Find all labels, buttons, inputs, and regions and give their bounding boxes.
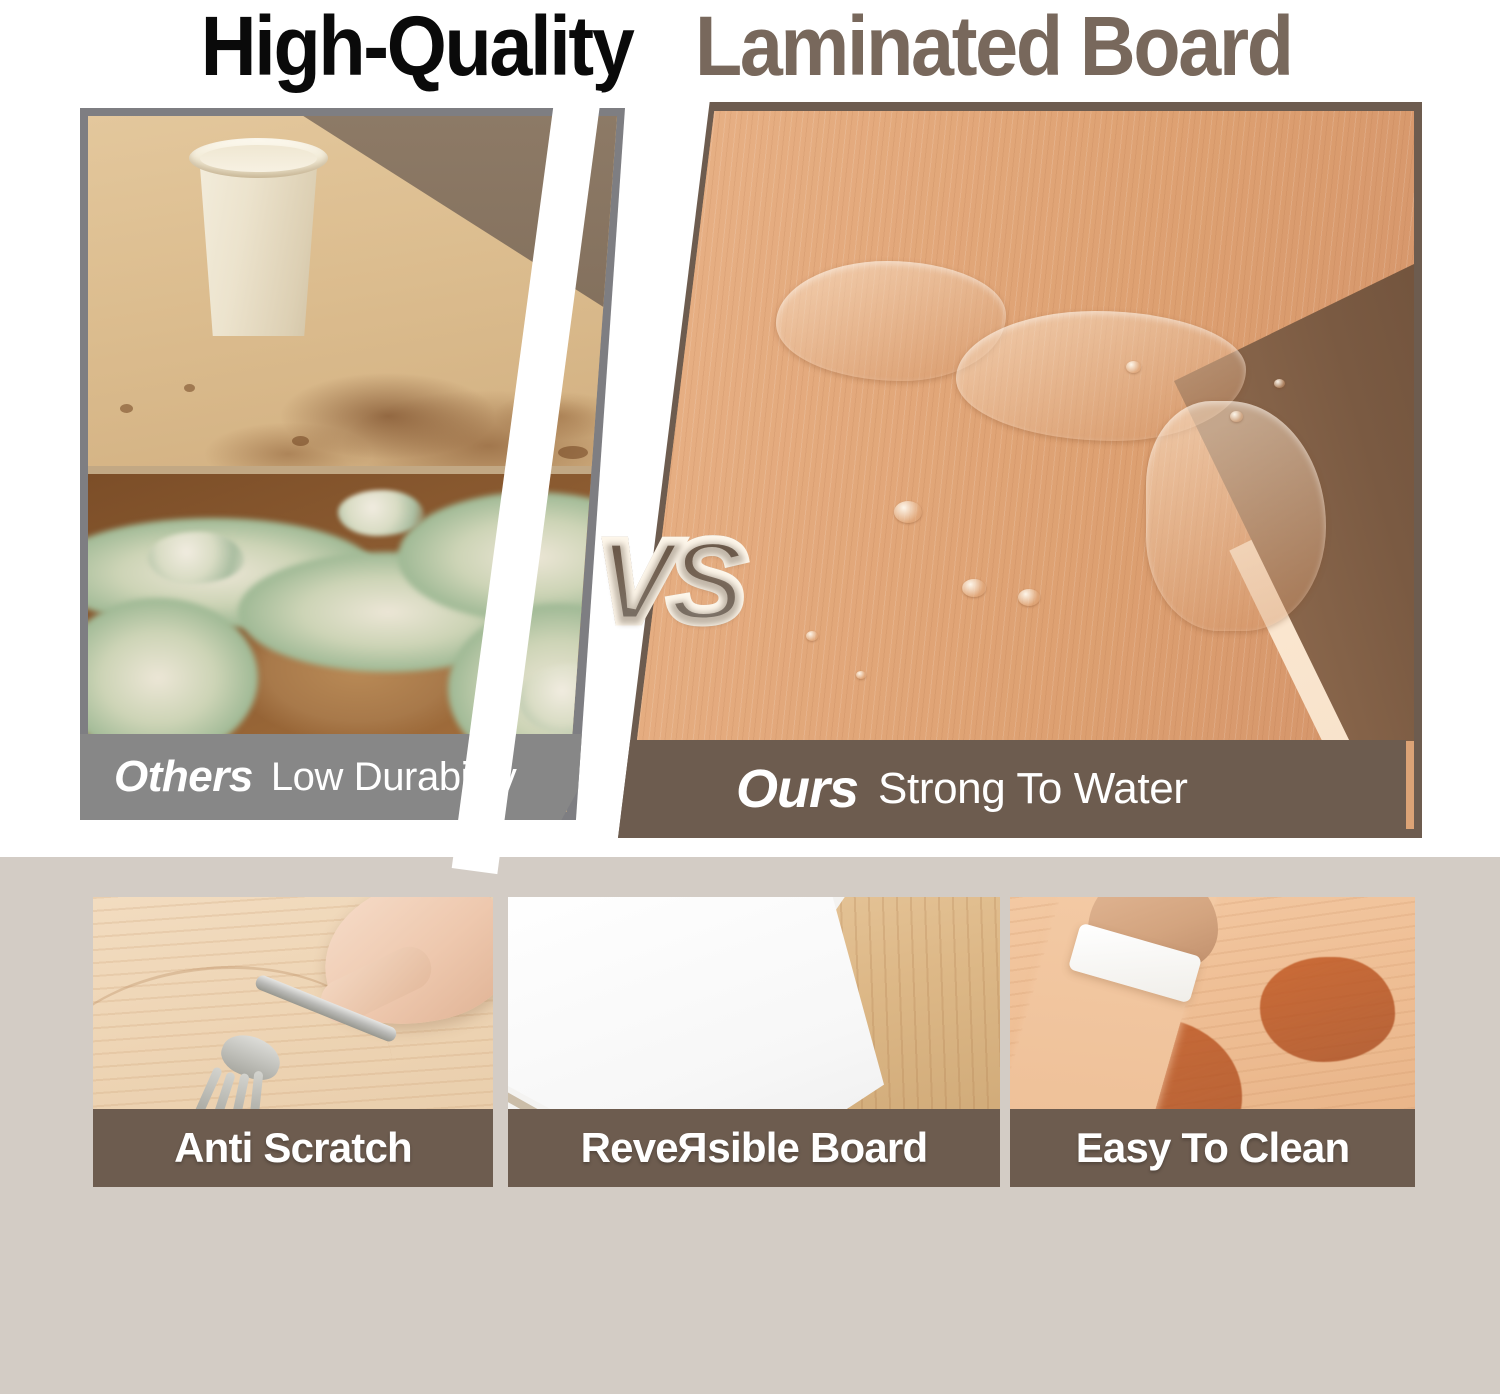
water-bead <box>1126 361 1141 373</box>
feature-label-text: Easy To Clean <box>1076 1124 1350 1172</box>
ours-block: Ours Strong To Water <box>618 102 1422 838</box>
feature-card-reversible-board: ReveRsible Board <box>508 897 1000 1187</box>
features-section: Anti Scratch ReveRsible Board Easy To Cl… <box>0 857 1500 1394</box>
page-title-part-one: High-Quality <box>201 4 633 88</box>
feature-label-bar: Easy To Clean <box>1010 1109 1415 1187</box>
comparison-section: Others Low Durability <box>0 100 1500 840</box>
others-brand-label: Others <box>114 752 253 802</box>
feature-label-text: Anti Scratch <box>174 1124 412 1172</box>
mold-colony <box>518 664 617 734</box>
feature-card-anti-scratch: Anti Scratch <box>93 897 493 1187</box>
sauce-stain <box>1260 957 1395 1062</box>
spill-droplet <box>120 404 133 413</box>
ours-photo-wrap <box>626 111 1414 829</box>
mold-colony <box>148 532 244 584</box>
water-bead <box>1274 379 1285 388</box>
spill-droplet <box>184 384 195 392</box>
ours-brand-label: Ours <box>736 758 858 820</box>
feature-label-bar: ReveRsible Board <box>508 1109 1000 1187</box>
water-bead <box>856 671 866 679</box>
water-bead <box>806 631 818 641</box>
water-bead <box>894 501 922 523</box>
water-bead <box>962 579 986 597</box>
water-bead <box>1230 411 1243 422</box>
others-caption-bar: Others Low Durability <box>80 734 609 820</box>
page-title-part-two: Laminated Board <box>695 4 1292 88</box>
label-suffix: sible Board <box>707 1124 927 1171</box>
spill-droplet <box>292 436 309 446</box>
ours-claim-label: Strong To Water <box>878 764 1187 814</box>
mirrored-r-glyph: R <box>678 1124 708 1172</box>
mold-colony <box>338 490 424 536</box>
water-bead <box>1018 589 1040 606</box>
paper-cup-interior <box>200 145 317 172</box>
paper-cup <box>195 151 322 336</box>
vs-badge: VS <box>597 514 740 648</box>
spill-droplet <box>558 446 588 459</box>
label-prefix: Reve <box>581 1124 678 1171</box>
water-beading-photo <box>626 111 1414 741</box>
feature-card-easy-to-clean: Easy To Clean <box>1010 897 1415 1187</box>
feature-label-text: ReveRsible Board <box>581 1124 928 1172</box>
ours-caption-bar: Ours Strong To Water <box>618 740 1406 838</box>
page-title: High-Quality Laminated Board <box>0 0 1500 94</box>
feature-label-bar: Anti Scratch <box>93 1109 493 1187</box>
